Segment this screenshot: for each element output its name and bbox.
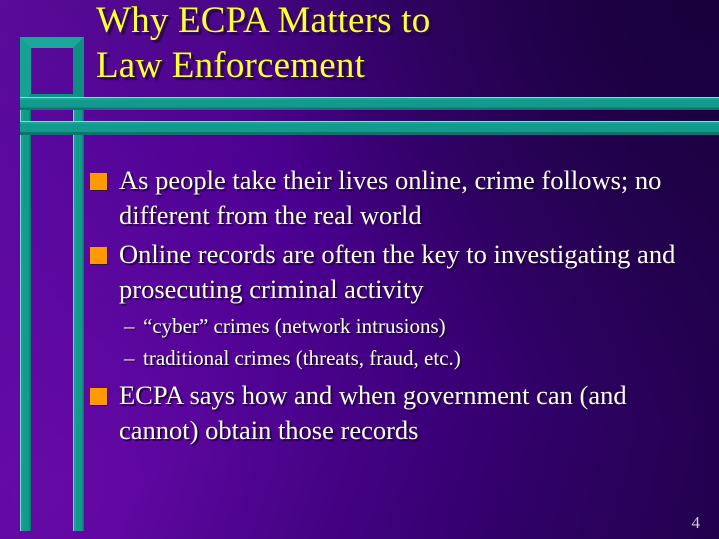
- presentation-slide: Why ECPA Matters to Law Enforcement As p…: [0, 0, 719, 539]
- list-item: As people take their lives online, crime…: [90, 163, 710, 233]
- sub-list-item: – “cyber” crimes (network intrusions): [124, 311, 710, 342]
- orange-square-bullet-icon: [90, 388, 107, 405]
- teal-vertical-bar-left: [20, 37, 31, 531]
- orange-square-bullet-icon: [90, 247, 107, 264]
- sub-bullet-text: traditional crimes (threats, fraud, etc.…: [143, 343, 461, 374]
- bullet-text: Online records are often the key to inve…: [119, 237, 710, 307]
- list-item: ECPA says how and when government can (a…: [90, 378, 710, 448]
- sub-bullet-text: “cyber” crimes (network intrusions): [143, 311, 446, 342]
- slide-body: As people take their lives online, crime…: [90, 163, 710, 452]
- slide-title: Why ECPA Matters to Law Enforcement: [96, 0, 696, 88]
- teal-vertical-bar-right: [73, 37, 84, 531]
- teal-horizontal-bar-top: [20, 97, 719, 110]
- dash-bullet-icon: –: [124, 311, 143, 342]
- dash-bullet-icon: –: [124, 343, 143, 374]
- teal-square-outline: [20, 37, 84, 105]
- orange-square-bullet-icon: [90, 173, 107, 190]
- teal-horizontal-bar-bottom: [20, 121, 719, 135]
- list-item: Online records are often the key to inve…: [90, 237, 710, 307]
- sub-bullet-list: – “cyber” crimes (network intrusions) – …: [124, 311, 710, 374]
- sub-list-item: – traditional crimes (threats, fraud, et…: [124, 343, 710, 374]
- bullet-text: ECPA says how and when government can (a…: [119, 378, 710, 448]
- bullet-text: As people take their lives online, crime…: [119, 163, 710, 233]
- page-number: 4: [692, 513, 701, 533]
